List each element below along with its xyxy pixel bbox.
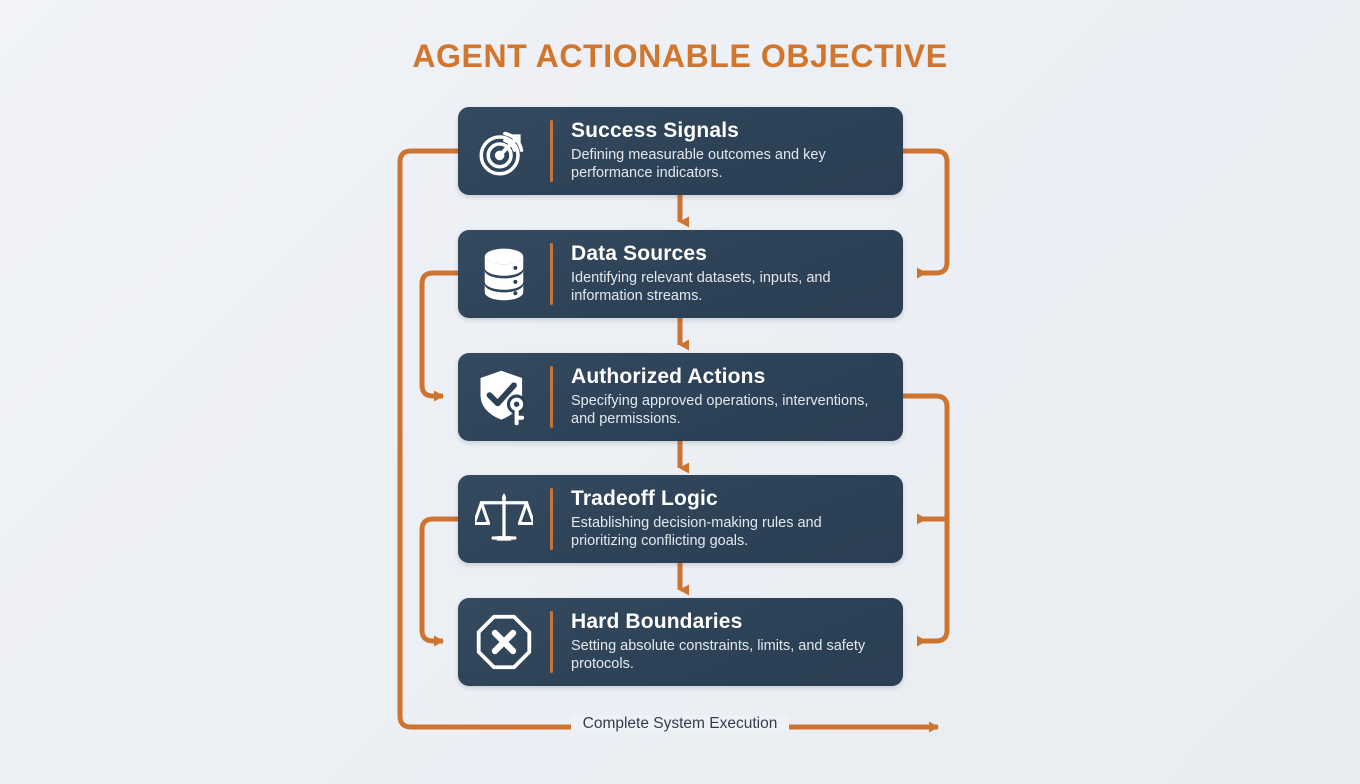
page-title: AGENT ACTIONABLE OBJECTIVE	[0, 38, 1360, 75]
footer-flow-label: Complete System Execution	[0, 715, 1360, 733]
card-text-block: Authorized Actions Specifying approved o…	[571, 365, 903, 429]
card-title: Data Sources	[571, 242, 889, 266]
octagon-x-icon	[458, 598, 550, 686]
card-success-signals[interactable]: Success Signals Defining measurable outc…	[458, 107, 903, 195]
diagram-canvas: AGENT ACTIONABLE OBJECTIVE	[0, 0, 1360, 784]
card-accent-divider	[550, 243, 553, 305]
shield-check-key-icon	[458, 353, 550, 441]
connector-left-loop-2	[422, 273, 458, 396]
card-title: Authorized Actions	[571, 365, 889, 389]
card-text-block: Success Signals Defining measurable outc…	[571, 119, 903, 183]
card-text-block: Hard Boundaries Setting absolute constra…	[571, 610, 903, 674]
connector-left-loop-4	[422, 519, 458, 641]
card-description: Setting absolute constraints, limits, an…	[571, 637, 871, 674]
card-text-block: Tradeoff Logic Establishing decision-mak…	[571, 487, 903, 551]
connector-right-loop-1	[903, 151, 947, 273]
card-accent-divider	[550, 120, 553, 182]
card-title: Tradeoff Logic	[571, 487, 889, 511]
connector-right-trunk	[903, 396, 947, 641]
card-tradeoff-logic[interactable]: Tradeoff Logic Establishing decision-mak…	[458, 475, 903, 563]
balance-scales-icon	[458, 475, 550, 563]
footer-flow-label-text: Complete System Execution	[571, 715, 790, 732]
card-title: Success Signals	[571, 119, 889, 143]
card-description: Specifying approved operations, interven…	[571, 392, 871, 429]
card-description: Defining measurable outcomes and key per…	[571, 146, 871, 183]
target-signal-icon	[458, 107, 550, 195]
card-title: Hard Boundaries	[571, 610, 889, 634]
card-data-sources[interactable]: Data Sources Identifying relevant datase…	[458, 230, 903, 318]
card-description: Identifying relevant datasets, inputs, a…	[571, 269, 871, 306]
card-accent-divider	[550, 611, 553, 673]
card-authorized-actions[interactable]: Authorized Actions Specifying approved o…	[458, 353, 903, 441]
card-hard-boundaries[interactable]: Hard Boundaries Setting absolute constra…	[458, 598, 903, 686]
card-text-block: Data Sources Identifying relevant datase…	[571, 242, 903, 306]
database-icon	[458, 230, 550, 318]
card-description: Establishing decision-making rules and p…	[571, 514, 871, 551]
card-accent-divider	[550, 488, 553, 550]
card-accent-divider	[550, 366, 553, 428]
